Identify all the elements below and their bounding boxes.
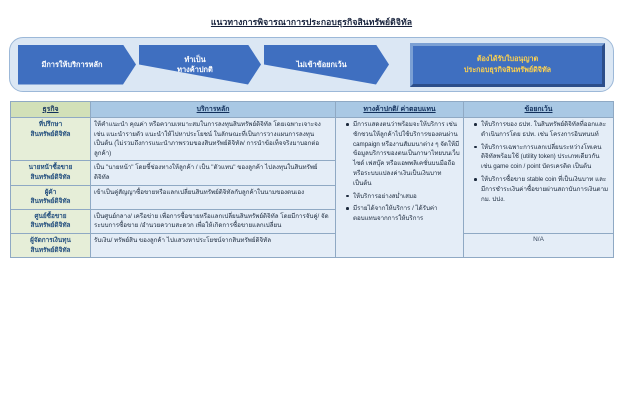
list-item: ให้บริการซื้อขาย stable coin ที่เป็นเงิน… [475,175,610,204]
business-fund-manager-line-1: ผู้จัดการเงินทุน [14,236,87,246]
cell-core-service-exchange: เป็นศูนย์กลาง/ เครือข่าย เพื่อการซื้อขาย… [91,209,336,233]
flow-step-normal-trade-line-2: ทางค้าปกติ [177,65,213,75]
cell-core-service-dealer: เข้าเป็นคู่สัญญาซื้อขายหรือแลกเปลี่ยนสิน… [91,185,336,209]
flow-result-line-1: ต้องได้รับใบอนุญาต [477,54,538,64]
cell-core-service-fund-manager: รับเงิน/ ทรัพย์สิน ของลูกค้า ไปแสวงหาประ… [91,234,336,258]
business-dealer-line-1: ผู้ค้า [14,188,87,198]
cell-exemption-criteria: ให้บริการของ ธปท. ในสินทรัพย์ดิจิทัลที่อ… [464,118,614,234]
document-page: แนวทางการพิจารณาการประกอบธุรกิจสินทรัพย์… [0,0,623,406]
cell-core-service-broker: เป็น "นายหน้า" โดยชี้ช่องทางให้ลูกค้า / … [91,161,336,185]
column-header-exemption: ข้อยกเว้น [464,102,614,118]
table-row: ผู้จัดการเงินทุน สินทรัพย์ดิจิทัล รับเงิ… [11,234,614,258]
flow-result-line-2: ประกอบธุรกิจสินทรัพย์ดิจิทัล [464,65,551,75]
business-exchange-line-2: สินทรัพย์ดิจิทัล [14,221,87,231]
list-item: มีการแสดงตนว่าพร้อมจะให้บริการ เช่น ชักช… [347,120,460,189]
table-body: ที่ปรึกษา สินทรัพย์ดิจิทัล ให้คำแนะนำ คุ… [11,118,614,258]
cell-business-broker: นายหน้าซื้อขาย สินทรัพย์ดิจิทัล [11,161,91,185]
list-item: ให้บริการเฉพาะการแลกเปลี่ยนระหว่างโทเคนด… [475,143,610,172]
flow-result-license-required: ต้องได้รับใบอนุญาต ประกอบธุรกิจสินทรัพย์… [410,43,605,87]
title-container: แนวทางการพิจารณาการประกอบธุรกิจสินทรัพย์… [0,0,623,37]
cell-business-dealer: ผู้ค้า สินทรัพย์ดิจิทัล [11,185,91,209]
table-row: ที่ปรึกษา สินทรัพย์ดิจิทัล ให้คำแนะนำ คุ… [11,118,614,161]
list-item: มีรายได้จากให้บริการ / ได้รับค่าตอบแทนจา… [347,204,460,224]
flow-steps-group: มีการให้บริการหลัก ทำเป็น ทางค้าปกติ ไม่… [18,45,394,85]
business-broker-line-1: นายหน้าซื้อขาย [14,163,87,173]
column-header-business: ธุรกิจ [11,102,91,118]
table-header: ธุรกิจ บริการหลัก ทางค้าปกติ/ ค่าตอบแทน … [11,102,614,118]
cell-business-advisor: ที่ปรึกษา สินทรัพย์ดิจิทัล [11,118,91,161]
flow-step-core-service-line-1: มีการให้บริการหลัก [41,60,102,70]
column-header-normal-trade: ทางค้าปกติ/ ค่าตอบแทน [336,102,464,118]
list-item: ให้บริการอย่างสม่ำเสมอ [347,192,460,202]
criteria-table: ธุรกิจ บริการหลัก ทางค้าปกติ/ ค่าตอบแทน … [10,101,614,258]
cell-business-exchange: ศูนย์ซื้อขาย สินทรัพย์ดิจิทัล [11,209,91,233]
criteria-table-container: ธุรกิจ บริการหลัก ทางค้าปกติ/ ค่าตอบแทน … [10,101,613,258]
cell-normal-trade-criteria: มีการแสดงตนว่าพร้อมจะให้บริการ เช่น ชักช… [336,118,464,258]
list-item: ให้บริการของ ธปท. ในสินทรัพย์ดิจิทัลที่อ… [475,120,610,140]
process-flow-diagram: มีการให้บริการหลัก ทำเป็น ทางค้าปกติ ไม่… [9,37,614,92]
flow-step-no-exemption: ไม่เข้าข้อยกเว้น [264,45,389,85]
flow-step-normal-trade: ทำเป็น ทางค้าปกติ [139,45,261,85]
exemption-bullet-list: ให้บริการของ ธปท. ในสินทรัพย์ดิจิทัลที่อ… [467,120,610,204]
column-header-core-service: บริการหลัก [91,102,336,118]
business-fund-manager-line-2: สินทรัพย์ดิจิทัล [14,246,87,256]
cell-exemption-not-applicable: N/A [464,234,614,258]
flow-step-normal-trade-line-1: ทำเป็น [184,55,205,65]
business-advisor-line-2: สินทรัพย์ดิจิทัล [14,130,87,140]
cell-core-service-advisor: ให้คำแนะนำ คุณค่า หรือความเหมาะสมในการลง… [91,118,336,161]
page-title: แนวทางการพิจารณาการประกอบธุรกิจสินทรัพย์… [211,18,412,27]
business-dealer-line-2: สินทรัพย์ดิจิทัล [14,197,87,207]
business-exchange-line-1: ศูนย์ซื้อขาย [14,212,87,222]
flow-step-no-exemption-line-1: ไม่เข้าข้อยกเว้น [296,60,346,70]
business-advisor-line-1: ที่ปรึกษา [14,120,87,130]
flow-step-core-service: มีการให้บริการหลัก [18,45,136,85]
cell-business-fund-manager: ผู้จัดการเงินทุน สินทรัพย์ดิจิทัล [11,234,91,258]
table-header-row: ธุรกิจ บริการหลัก ทางค้าปกติ/ ค่าตอบแทน … [11,102,614,118]
business-broker-line-2: สินทรัพย์ดิจิทัล [14,173,87,183]
normal-trade-bullet-list: มีการแสดงตนว่าพร้อมจะให้บริการ เช่น ชักช… [339,120,460,224]
